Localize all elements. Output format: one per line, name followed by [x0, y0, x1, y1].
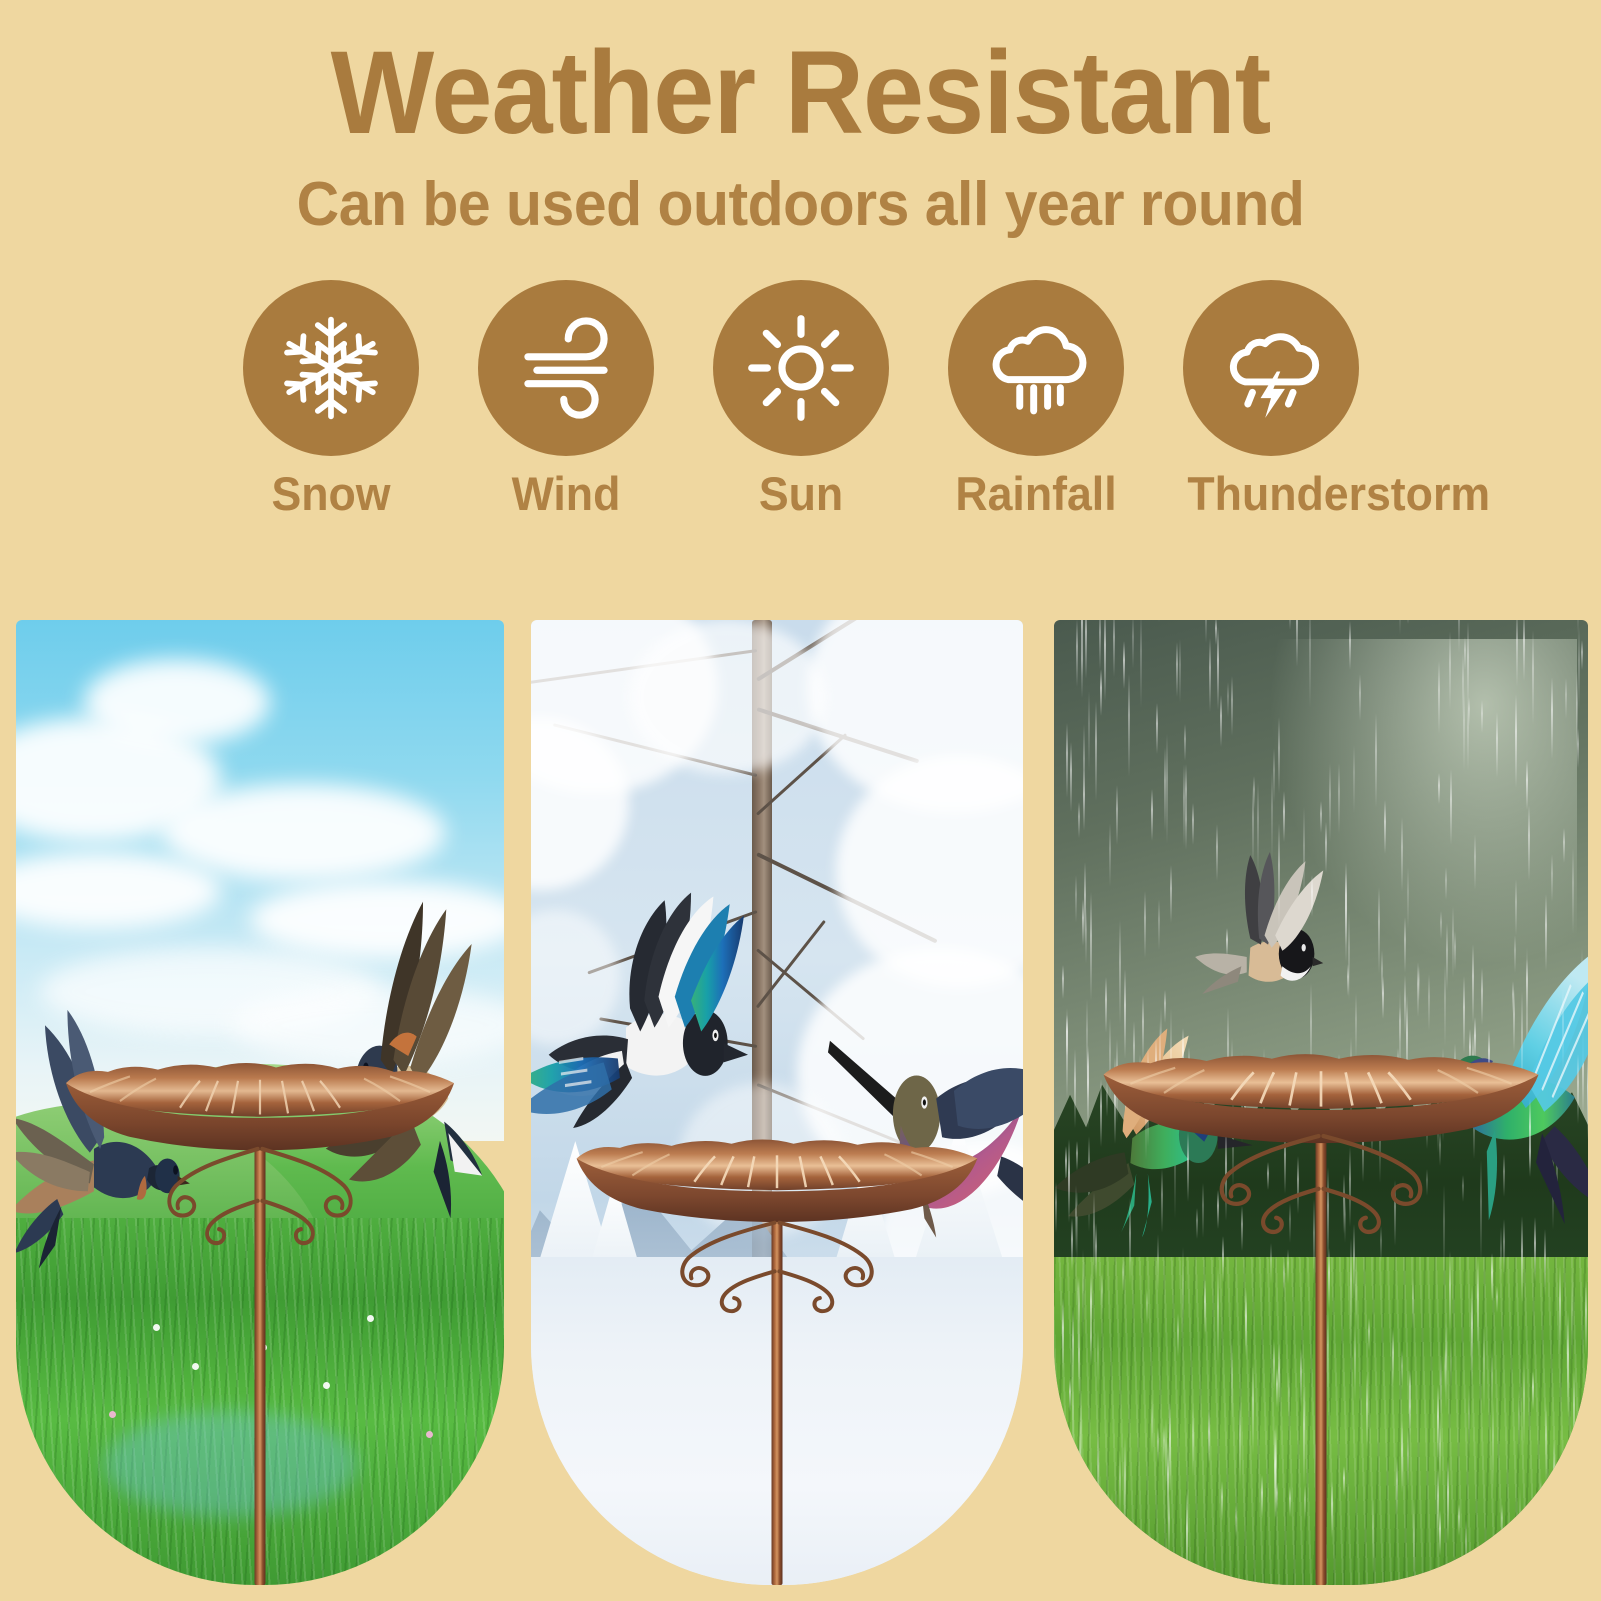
feature-label-rainfall: Rainfall: [952, 470, 1119, 517]
cloud: [162, 784, 445, 881]
product-scene-panels: [0, 620, 1601, 1601]
page-title: Weather Resistant: [56, 34, 1545, 152]
birdbath-product: [531, 1131, 1023, 1585]
rainfall-panel: [1054, 620, 1588, 1585]
birdbath-product: [1054, 1045, 1588, 1585]
feature-wind: Wind: [478, 280, 654, 517]
sunny-meadow-panel: [16, 620, 504, 1585]
feature-label-thunderstorm: Thunderstorm: [1187, 470, 1354, 517]
birdbath-scrollwork: [634, 1218, 919, 1318]
thunderstorm-cloud-icon: [1213, 310, 1329, 426]
feature-label-snow: Snow: [247, 470, 414, 517]
snow-winter-scene: [531, 620, 1023, 1585]
rain-cloud-icon: [978, 310, 1094, 426]
birdbath-scrollwork: [123, 1144, 396, 1250]
snowflake-icon: [276, 313, 386, 423]
birdbath-bowl: [60, 1054, 460, 1155]
sun-icon-circle: [713, 280, 889, 456]
weather-feature-row: Snow Wind: [0, 280, 1601, 517]
snow-icon-circle: [243, 280, 419, 456]
feature-thunderstorm: Thunderstorm: [1183, 280, 1359, 517]
birdbath-bowl: [570, 1131, 983, 1226]
frosted-foliage: [629, 620, 826, 774]
header: Weather Resistant Can be used outdoors a…: [0, 0, 1601, 236]
cloud: [84, 659, 269, 746]
rainfall-icon-circle: [948, 280, 1124, 456]
wind-icon: [510, 312, 622, 424]
page-subtitle: Can be used outdoors all year round: [40, 174, 1561, 236]
chickadee-bird: [1188, 852, 1348, 1006]
wind-icon-circle: [478, 280, 654, 456]
birdbath-scrollwork: [1171, 1131, 1470, 1239]
feature-snow: Snow: [243, 280, 419, 517]
feature-sun: Sun: [713, 280, 889, 517]
magpie-bird: [531, 881, 811, 1151]
birdbath-product: [16, 1054, 504, 1585]
feature-label-wind: Wind: [482, 470, 649, 517]
feature-rainfall: Rainfall: [948, 280, 1124, 517]
sunny-meadow-scene: [16, 620, 504, 1585]
thunderstorm-icon-circle: [1183, 280, 1359, 456]
rainfall-scene: [1054, 620, 1588, 1585]
sun-icon: [745, 312, 857, 424]
snow-winter-panel: [531, 620, 1023, 1585]
feature-label-sun: Sun: [717, 470, 884, 517]
